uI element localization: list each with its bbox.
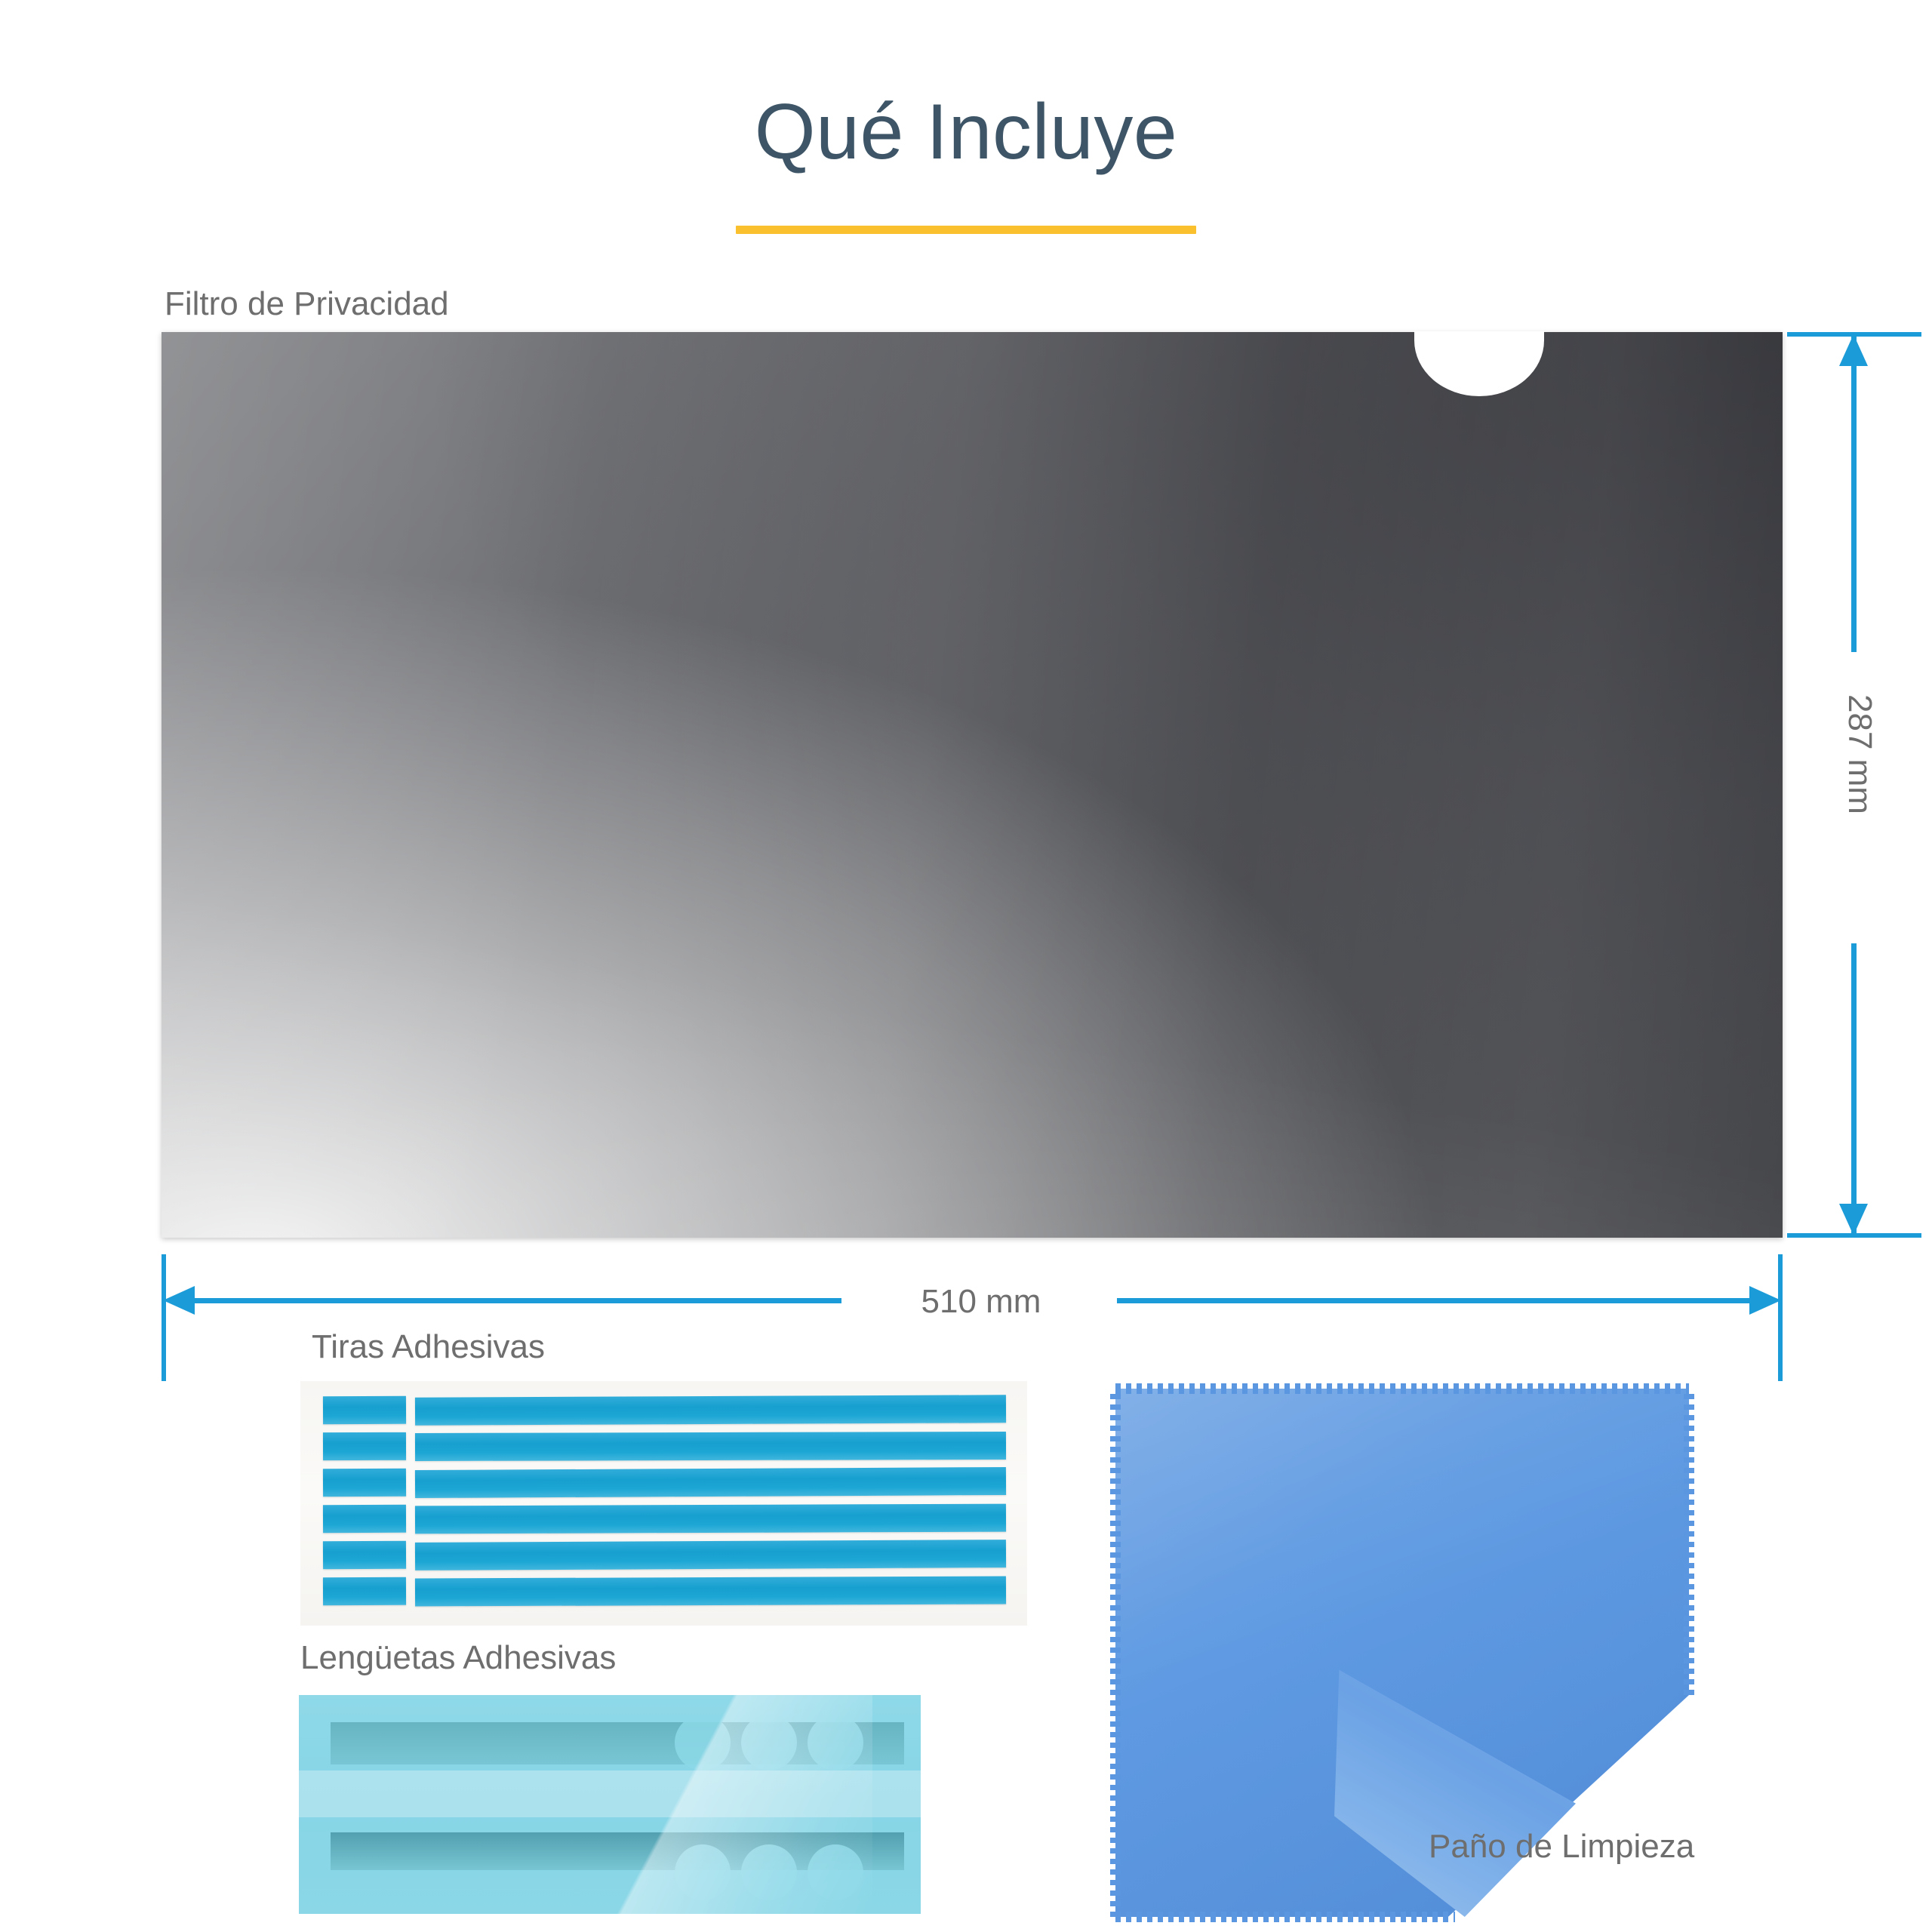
page-title: Qué Incluye [0, 89, 1932, 175]
adhesive-strip-long [415, 1540, 1006, 1571]
adhesive-strip-long [415, 1576, 1006, 1606]
adhesive-strip-row [323, 1469, 1006, 1497]
width-dimension-value: 510 mm [860, 1283, 1102, 1321]
width-dimension-arrow-left-icon [163, 1286, 195, 1315]
height-dimension-line-lower [1851, 943, 1857, 1236]
privacy-filter-label: Filtro de Privacidad [165, 285, 449, 323]
adhesive-strip-long [415, 1432, 1006, 1461]
height-dimension-arrow-up-icon [1839, 334, 1868, 366]
adhesive-strip-short [323, 1505, 406, 1533]
adhesive-strip-short [323, 1577, 406, 1605]
adhesive-strip-short [323, 1432, 406, 1460]
adhesive-tabs-block-icon [299, 1695, 921, 1914]
adhesive-tabs-label: Lengüetas Adhesivas [300, 1639, 616, 1677]
width-dimension-tick-left [162, 1254, 166, 1381]
adhesive-strip-row [323, 1432, 1006, 1460]
width-dimension-line-left [192, 1298, 841, 1303]
height-dimension-arrow-down-icon [1839, 1204, 1868, 1235]
adhesive-strip-long [415, 1467, 1006, 1498]
width-dimension-arrow-right-icon [1749, 1286, 1781, 1315]
adhesive-strip-short [323, 1541, 406, 1570]
adhesive-strip-row [323, 1541, 1006, 1569]
adhesive-strip-row [323, 1577, 1006, 1605]
adhesive-strip-short [323, 1396, 406, 1424]
adhesive-strip-long [415, 1504, 1006, 1534]
adhesive-strips-sheet-icon [300, 1381, 1027, 1626]
title-underline-accent [736, 226, 1196, 234]
adhesive-strip-short [323, 1469, 406, 1497]
height-dimension-value: 287 mm [1841, 694, 1878, 755]
adhesive-strip-long [415, 1395, 1006, 1425]
adhesive-tabs-highlight [548, 1695, 872, 1914]
cleaning-cloth-label: Paño de Limpieza [1429, 1828, 1694, 1866]
adhesive-strip-row [323, 1505, 1006, 1533]
adhesive-strips-label: Tiras Adhesivas [312, 1328, 545, 1366]
width-dimension-line-right [1117, 1298, 1751, 1303]
height-dimension-line-upper [1851, 337, 1857, 652]
width-dimension-tick-right [1778, 1254, 1783, 1381]
privacy-filter-illustration [162, 332, 1783, 1238]
privacy-filter-panel-icon [162, 332, 1783, 1238]
adhesive-strip-row [323, 1396, 1006, 1424]
